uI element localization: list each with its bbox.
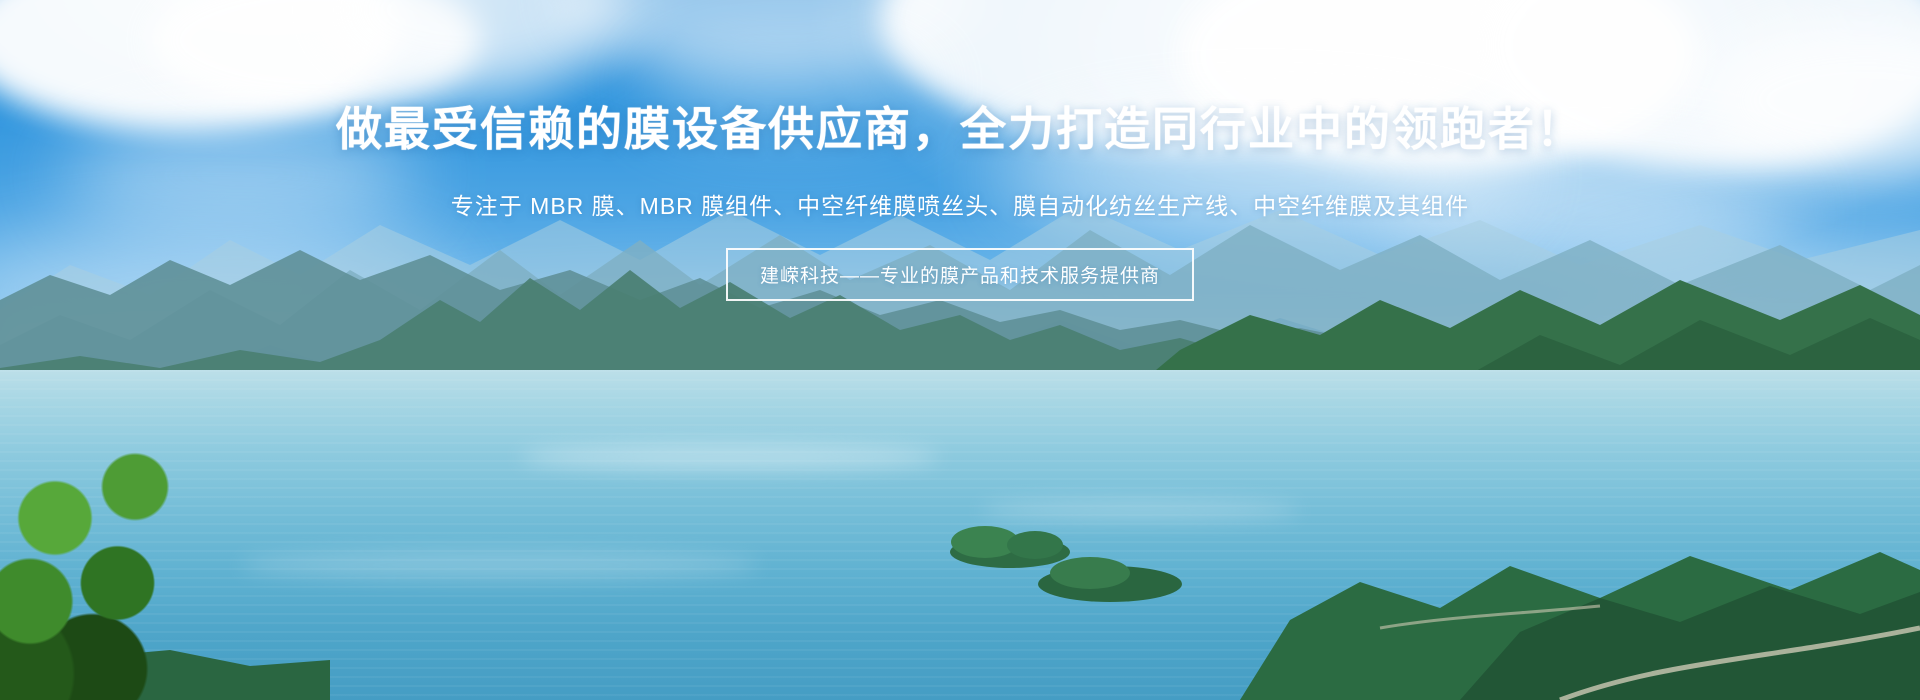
foreground-foliage [0, 440, 230, 700]
banner-subtitle: 专注于 MBR 膜、MBR 膜组件、中空纤维膜喷丝头、膜自动化纺丝生产线、中空纤… [0, 187, 1920, 221]
banner-text-block: 做最受信赖的膜设备供应商，全力打造同行业中的领跑者！ 专注于 MBR 膜、MBR… [0, 0, 1920, 301]
banner-headline: 做最受信赖的膜设备供应商，全力打造同行业中的领跑者！ [0, 104, 1920, 155]
hero-banner: 做最受信赖的膜设备供应商，全力打造同行业中的领跑者！ 专注于 MBR 膜、MBR… [0, 0, 1920, 700]
banner-tagline-box: 建嵘科技——专业的膜产品和技术服务提供商 [726, 248, 1194, 301]
shoreline-foreground [0, 370, 1920, 700]
banner-tagline-wrapper: 建嵘科技——专业的膜产品和技术服务提供商 [0, 248, 1920, 301]
